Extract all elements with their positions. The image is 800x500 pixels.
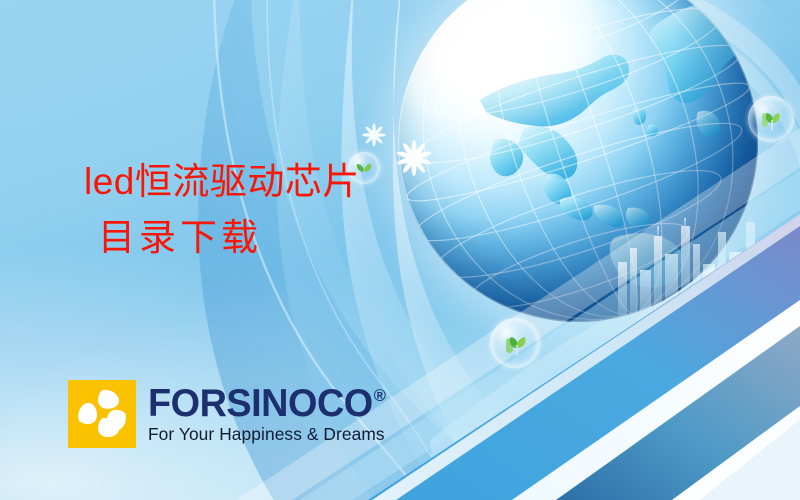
world-globe — [398, 0, 758, 322]
banner-root: led恒流驱动芯片 目录下载 FORSINOCO ® — [0, 0, 800, 500]
registered-trademark-symbol: ® — [374, 387, 386, 404]
logo-text-block: FORSINOCO ® For Your Happiness & Dreams — [148, 384, 393, 444]
headline-line-2: 目录下载 — [98, 220, 360, 258]
company-logo: FORSINOCO ® For Your Happiness & Dreams — [68, 380, 393, 448]
logo-wordmark: FORSINOCO ® — [148, 384, 385, 423]
headline-line-1: led恒流驱动芯片 — [84, 163, 360, 201]
globe-continents — [398, 0, 758, 322]
logo-wordmark-text: FORSINOCO — [148, 384, 373, 423]
headline: led恒流驱动芯片 目录下载 — [84, 163, 360, 257]
globe-sphere — [398, 0, 758, 322]
logo-tagline: For Your Happiness & Dreams — [148, 426, 390, 444]
forsinoco-pinwheel-mark-icon — [68, 380, 136, 448]
pinwheel-petals-icon — [68, 380, 136, 448]
